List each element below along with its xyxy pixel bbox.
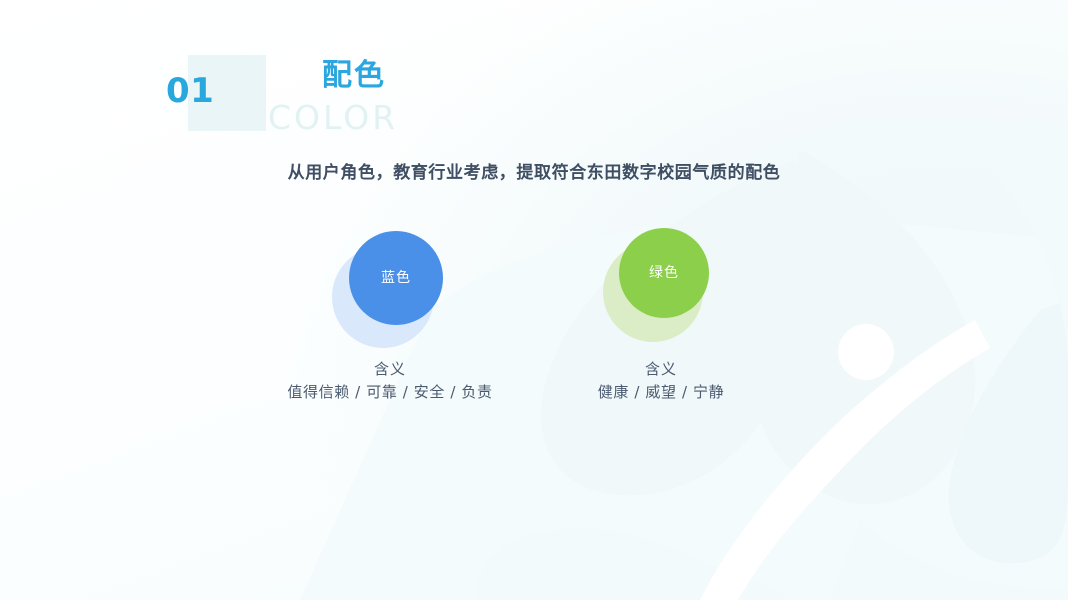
swatch-label-blue: 蓝色 (381, 271, 411, 285)
swatch-circle-blue[interactable]: 蓝色 (349, 231, 443, 325)
color-swatch-blue[interactable]: 蓝色 (280, 228, 500, 346)
section-title: 配色 (322, 59, 386, 92)
caption-group: 含义 值得信赖 / 可靠 / 安全 / 负责 含义 健康 / 威望 / 宁静 (0, 358, 1068, 418)
swatch-circle-green[interactable]: 绿色 (619, 228, 709, 318)
caption-values-green: 健康 / 威望 / 宁静 (511, 381, 811, 404)
caption-heading-blue: 含义 (240, 358, 540, 381)
color-swatch-green[interactable]: 绿色 (551, 228, 771, 346)
swatch-circle-wrap-green: 绿色 (601, 228, 721, 346)
caption-heading-green: 含义 (511, 358, 811, 381)
leaf-lower-right-shape (830, 520, 1068, 600)
description-row: 从用户角色，教育行业考虑，提取符合东田数字校园气质的配色 (0, 162, 1068, 186)
slide-root: 01 配色 COLOR 从用户角色，教育行业考虑，提取符合东田数字校园气质的配色… (0, 0, 1068, 600)
swatch-label-green: 绿色 (649, 266, 679, 280)
section-subtitle: COLOR (268, 100, 398, 136)
swatch-circle-wrap-blue: 蓝色 (330, 228, 450, 346)
caption-values-blue: 值得信赖 / 可靠 / 安全 / 负责 (240, 381, 540, 404)
caption-blue: 含义 值得信赖 / 可靠 / 安全 / 负责 (240, 358, 540, 405)
description-text: 从用户角色，教育行业考虑，提取符合东田数字校园气质的配色 (288, 162, 781, 186)
caption-green: 含义 健康 / 威望 / 宁静 (511, 358, 811, 405)
leaf-lower-left-shape (476, 528, 790, 600)
slide-header: 01 配色 COLOR (0, 0, 1068, 150)
section-number: 01 (166, 74, 214, 108)
